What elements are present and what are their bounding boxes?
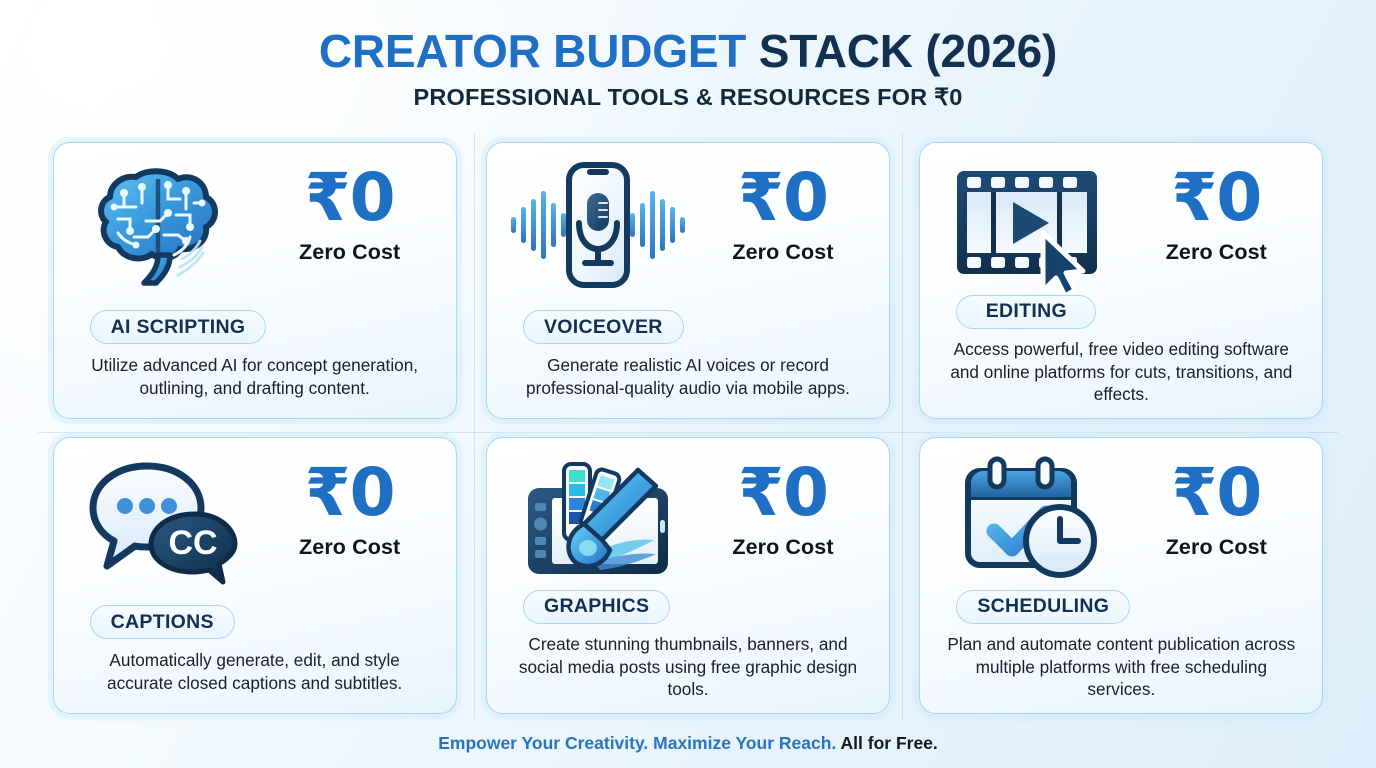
page-subtitle: PROFESSIONAL TOOLS & RESOURCES FOR ₹0: [0, 83, 1376, 111]
category-pill-scheduling[interactable]: SCHEDULING: [956, 590, 1130, 624]
price-value: ₹0: [305, 460, 395, 526]
grid-cell: ₹0 Zero Cost AI SCRIPTING Utilize advanc…: [38, 133, 471, 428]
card-top: ₹0 Zero Cost: [503, 454, 873, 590]
price-caption: Zero Cost: [1166, 535, 1267, 560]
price-block: ₹0 Zero Cost: [1126, 454, 1306, 560]
infographic-page: CREATOR BUDGET STACK (2026) PROFESSIONAL…: [0, 0, 1376, 768]
feature-card-voiceover[interactable]: ₹0 Zero Cost VOICEOVER Generate realisti…: [486, 142, 890, 419]
card-description: Plan and automate content publication ac…: [936, 633, 1306, 701]
title-remainder: STACK (2026): [759, 25, 1057, 77]
card-top: ₹0 Zero Cost: [503, 159, 873, 309]
card-description: Access powerful, free video editing soft…: [936, 338, 1306, 406]
pill-row: AI SCRIPTING: [70, 309, 440, 345]
price-caption: Zero Cost: [732, 535, 833, 560]
feature-card-ai-scripting[interactable]: ₹0 Zero Cost AI SCRIPTING Utilize advanc…: [53, 142, 457, 419]
price-value: ₹0: [738, 460, 828, 526]
footer-blue-text: Empower Your Creativity. Maximize Your R…: [438, 733, 836, 753]
feature-card-editing[interactable]: ₹0 Zero Cost EDITING Access powerful, fr…: [919, 142, 1323, 419]
card-top: ₹0 Zero Cost: [936, 159, 1306, 295]
card-top: CC ₹0 Zero Cost: [70, 454, 440, 604]
feature-card-graphics[interactable]: ₹0 Zero Cost GRAPHICS Create stunning th…: [486, 437, 890, 714]
price-value: ₹0: [1171, 165, 1261, 231]
card-top: ₹0 Zero Cost: [936, 454, 1306, 590]
grid-cell: CC ₹0 Zero Cost CAPTIONS Automatically g…: [38, 428, 471, 723]
category-pill-graphics[interactable]: GRAPHICS: [523, 590, 670, 624]
grid-cell: ₹0 Zero Cost VOICEOVER Generate realisti…: [471, 133, 904, 428]
price-caption: Zero Cost: [732, 240, 833, 265]
card-description: Utilize advanced AI for concept generati…: [70, 354, 440, 399]
price-block: ₹0 Zero Cost: [693, 159, 873, 265]
price-value: ₹0: [1171, 460, 1261, 526]
grid-cell: ₹0 Zero Cost EDITING Access powerful, fr…: [905, 133, 1338, 428]
footer-tagline: Empower Your Creativity. Maximize Your R…: [0, 733, 1376, 754]
svg-text:CC: CC: [168, 524, 217, 562]
pill-row: EDITING: [936, 295, 1306, 329]
title-highlight: CREATOR BUDGET: [319, 25, 759, 77]
header: CREATOR BUDGET STACK (2026) PROFESSIONAL…: [0, 0, 1376, 111]
pill-row: CAPTIONS: [70, 604, 440, 640]
price-block: ₹0 Zero Cost: [1126, 159, 1306, 265]
drawing-tablet-brush-icon: [503, 454, 693, 586]
price-caption: Zero Cost: [299, 535, 400, 560]
price-caption: Zero Cost: [299, 240, 400, 265]
feature-card-captions[interactable]: CC ₹0 Zero Cost CAPTIONS Automatically g…: [53, 437, 457, 714]
price-block: ₹0 Zero Cost: [260, 454, 440, 560]
pill-row: VOICEOVER: [503, 309, 873, 345]
card-description: Generate realistic AI voices or record p…: [503, 354, 873, 399]
price-caption: Zero Cost: [1166, 240, 1267, 265]
pill-row: GRAPHICS: [503, 590, 873, 624]
price-value: ₹0: [305, 165, 395, 231]
grid-cell: ₹0 Zero Cost GRAPHICS Create stunning th…: [471, 428, 904, 723]
price-value: ₹0: [738, 165, 828, 231]
price-block: ₹0 Zero Cost: [260, 159, 440, 265]
film-strip-play-cursor-icon: [936, 159, 1126, 291]
feature-card-grid: ₹0 Zero Cost AI SCRIPTING Utilize advanc…: [38, 133, 1338, 723]
pill-row: SCHEDULING: [936, 590, 1306, 624]
category-pill-captions[interactable]: CAPTIONS: [90, 605, 235, 639]
calendar-clock-check-icon: [936, 454, 1126, 586]
card-description: Automatically generate, edit, and style …: [70, 649, 440, 694]
speech-bubble-cc-icon: CC: [70, 454, 260, 586]
page-title: CREATOR BUDGET STACK (2026): [0, 27, 1376, 76]
ai-brain-icon: [70, 159, 260, 291]
category-pill-voiceover[interactable]: VOICEOVER: [523, 310, 684, 344]
price-block: ₹0 Zero Cost: [693, 454, 873, 560]
card-top: ₹0 Zero Cost: [70, 159, 440, 309]
footer-dark-text: All for Free.: [836, 733, 937, 753]
grid-cell: ₹0 Zero Cost SCHEDULING Plan and automat…: [905, 428, 1338, 723]
category-pill-ai-scripting[interactable]: AI SCRIPTING: [90, 310, 267, 344]
category-pill-editing[interactable]: EDITING: [956, 295, 1096, 329]
feature-card-scheduling[interactable]: ₹0 Zero Cost SCHEDULING Plan and automat…: [919, 437, 1323, 714]
card-description: Create stunning thumbnails, banners, and…: [503, 633, 873, 701]
phone-microphone-icon: [503, 159, 693, 291]
